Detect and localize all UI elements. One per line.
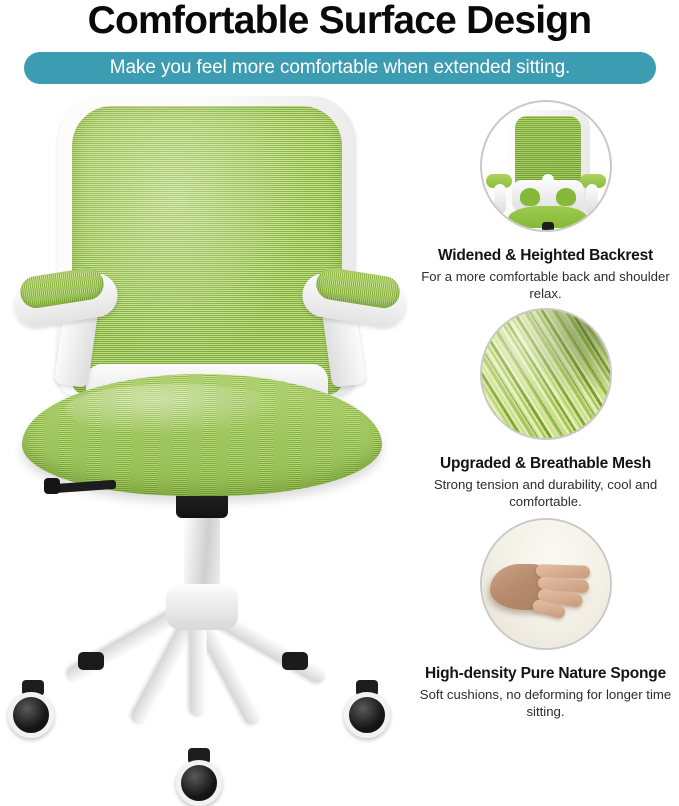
caster-wheel <box>344 692 390 738</box>
product-infographic: Comfortable Surface Design Make you feel… <box>0 0 679 726</box>
subtitle-text: Make you feel more comfortable when exte… <box>110 58 570 78</box>
back-armpost-left <box>494 184 506 214</box>
feature-body: Strong tension and durability, cool and … <box>416 476 675 510</box>
feature-heading: High-density Pure Nature Sponge <box>412 664 679 684</box>
feature-body: For a more comfortable back and shoulder… <box>416 268 675 302</box>
back-stem-shape <box>542 222 554 232</box>
hand-pressing-sponge-photo-icon <box>480 518 612 650</box>
chair-hero-image <box>0 96 420 726</box>
mesh-fabric-closeup-photo-icon <box>480 308 612 440</box>
caster-mount <box>78 652 104 670</box>
caster-tire <box>176 760 222 806</box>
caster-mount <box>282 652 308 670</box>
lever-knob <box>44 478 60 494</box>
feature-heading: Upgraded & Breathable Mesh <box>412 454 679 474</box>
base-hub <box>166 584 238 630</box>
height-adjustment-lever <box>52 480 116 493</box>
feature-list: Widened & Heighted Backrest For a more c… <box>412 100 679 726</box>
subtitle-banner: Make you feel more comfortable when exte… <box>24 52 656 84</box>
chair-back-view-photo-icon <box>480 100 612 232</box>
caster-wheel <box>8 692 54 738</box>
feature-body: Soft cushions, no deforming for longer t… <box>416 686 675 720</box>
armrest-right <box>296 268 414 386</box>
caster-wheel <box>176 760 222 806</box>
page-title: Comfortable Surface Design <box>0 0 679 44</box>
caster-tire <box>8 692 54 738</box>
caster-tire <box>344 692 390 738</box>
mesh-texture-shape <box>482 310 610 438</box>
feature-heading: Widened & Heighted Backrest <box>412 246 679 266</box>
back-armpost-right <box>586 184 598 214</box>
armrest-left <box>6 268 124 386</box>
